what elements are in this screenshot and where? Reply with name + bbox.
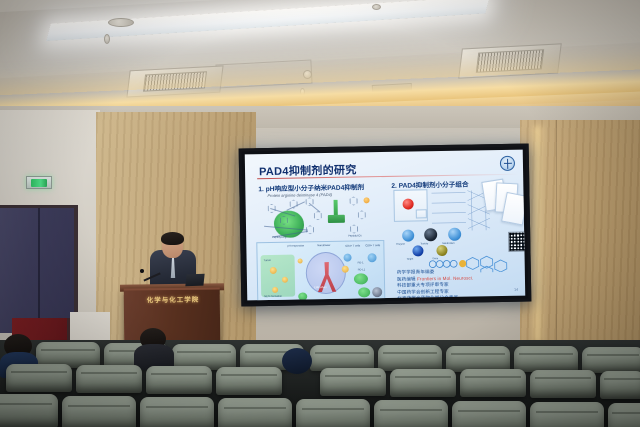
molecule-ring-icon (350, 224, 358, 233)
wall-edge-glow (534, 126, 546, 342)
property-sphere-icon (402, 229, 414, 241)
seat (608, 403, 640, 427)
sphere-caption: Enzyme (396, 243, 405, 246)
molecule-ring-icon (306, 225, 314, 234)
seat (582, 347, 640, 373)
smoke-detector (108, 18, 134, 27)
molecule-node-icon (282, 277, 288, 283)
seat (460, 369, 526, 397)
bio-label: CD8+ T cells (365, 244, 380, 247)
microphone-head-icon (140, 269, 144, 273)
molecule-node-icon (272, 287, 278, 293)
bio-label: PD-1 (358, 261, 364, 264)
bio-label: NETs formation (264, 295, 282, 298)
enzyme-label-box (328, 215, 345, 223)
bio-label: pH-responsive (287, 244, 304, 247)
attendee-head (282, 348, 312, 374)
panel-seam (556, 120, 557, 350)
bond-line (309, 203, 320, 212)
door-split-line (38, 208, 40, 333)
sphere-caption: Metabolism (442, 242, 454, 245)
seat (146, 366, 212, 394)
chem-caption: Peptidyl-Cit (348, 234, 361, 237)
seat (378, 345, 442, 371)
sphere-caption: Toxicity (420, 242, 428, 245)
combination-panel-right: Enzyme Toxicity Metabolism Target Dose (245, 150, 523, 155)
seat (390, 369, 456, 397)
seat (6, 364, 72, 392)
netosis-icon (372, 287, 382, 297)
seat (296, 399, 370, 427)
slide-canvas: PAD4抑制剂的研究 1. pH响应型小分子纳米PAD4抑制剂 Protein … (245, 150, 526, 301)
seat (530, 370, 596, 398)
property-sphere-icon (412, 245, 423, 256)
epr-label: EPR effect (314, 286, 326, 289)
seat (62, 396, 136, 427)
ceiling-sensor (104, 34, 110, 44)
molecule-ring-icon (358, 210, 366, 219)
seat (600, 371, 640, 399)
molecule-node-icon (342, 266, 349, 273)
mini-bar-chart (416, 209, 427, 218)
seat (0, 394, 58, 427)
blue-door[interactable] (0, 205, 78, 333)
cell-icon (298, 292, 307, 300)
tumor-cell-icon (358, 287, 370, 297)
credit-line: 北京药学会药物化学分会委员 (397, 295, 474, 301)
podium-label: 化学与化工学院 (128, 294, 218, 305)
molecule-node-icon (298, 258, 303, 263)
lecture-hall-photo: PAD4抑制剂的研究 1. pH响应型小分子纳米PAD4抑制剂 Protein … (0, 0, 640, 427)
slide-number: 14 (514, 288, 518, 292)
t-cell-icon (367, 253, 376, 262)
presenter-hair (161, 232, 184, 245)
qr-code-icon[interactable] (508, 232, 525, 252)
publication-thumbnail (501, 192, 525, 226)
seat (218, 398, 292, 427)
seat (216, 367, 282, 395)
emergency-exit-sign (26, 176, 52, 189)
seat (76, 365, 142, 393)
presentation-display[interactable]: PAD4抑制剂的研究 1. pH响应型小分子纳米PAD4抑制剂 Protein … (239, 143, 532, 306)
credits-block: 药学学报青年编委 医药编辑 Frontiers in Mol. Neurosci… (397, 268, 474, 300)
seat (140, 397, 214, 427)
molecule-ring-icon (314, 211, 322, 220)
bio-label: PD-L1 (358, 268, 365, 271)
seat (320, 368, 386, 396)
ceiling-sensor (372, 4, 381, 10)
seat (452, 401, 526, 427)
seat (374, 400, 448, 427)
bio-label: Tumor (264, 259, 271, 262)
modification-dot-icon (364, 197, 370, 203)
chem-caption: Peptidyl-Arg (272, 236, 286, 239)
laptop (185, 274, 204, 287)
tumor-cell-icon (354, 273, 368, 284)
seat (514, 346, 578, 372)
ceiling-sensor (303, 70, 312, 79)
seat (530, 402, 604, 427)
property-sphere-icon (448, 228, 461, 241)
sphere-caption: Target (407, 258, 414, 261)
mechanism-illustration: EPR effect pH-responsive Nanoflower CD4+… (256, 240, 385, 300)
t-cell-icon (343, 254, 351, 262)
bio-label: CD4+ T cells (345, 244, 360, 247)
molecule-node-icon (270, 267, 277, 274)
bio-label: Nanoflower (317, 244, 330, 247)
exit-green-glyph (31, 179, 47, 187)
university-emblem-icon (500, 156, 515, 171)
molecule-ring-icon (349, 196, 357, 205)
chem-schematic-left: Peptidyl-Arg Peptidyl-Cit (245, 150, 523, 155)
property-sphere-icon (424, 228, 437, 241)
section-1-subtitle: Protein arginine deiminase 4 (PAD4) (267, 192, 332, 198)
